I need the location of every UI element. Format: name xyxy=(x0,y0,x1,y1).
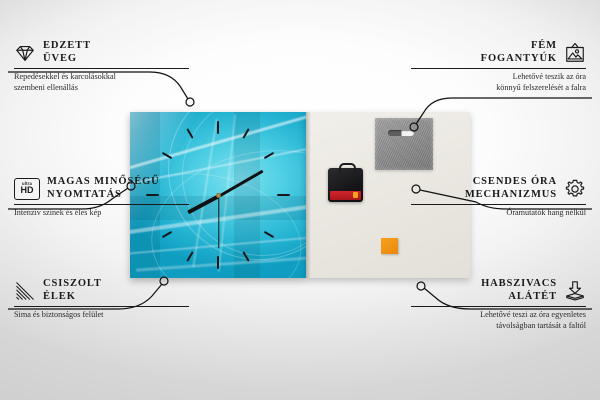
callout-title: MAGAS MINŐSÉGŰ xyxy=(47,176,160,189)
ultra-hd-icon: ultra HD xyxy=(14,178,40,200)
callout-edzett-uveg: EDZETT ÜVEG Repedésekkel és karcolásokka… xyxy=(14,40,189,93)
callout-title-2: FOGANTYÚK xyxy=(481,53,557,66)
callout-desc-1: Sima és biztonságos felület xyxy=(14,310,189,321)
diamond-gem-icon xyxy=(14,42,36,64)
callout-divider xyxy=(411,68,586,69)
callout-desc-1: Óramutatók hang nélkül xyxy=(411,208,586,219)
callout-divider xyxy=(411,306,586,307)
callout-title-2: NYOMTATÁS xyxy=(47,189,160,202)
callout-divider xyxy=(14,68,189,69)
wall-hanging-frame-icon xyxy=(564,42,586,64)
callout-title-2: ÜVEG xyxy=(43,53,91,66)
callout-desc-1: Lehetővé teszi az óra egyenletes xyxy=(411,310,586,321)
callout-desc-1: Lehetővé teszik az óra xyxy=(411,72,586,83)
polished-edge-icon xyxy=(14,280,36,302)
callout-divider xyxy=(14,306,189,307)
callout-desc-2: szembeni ellenállás xyxy=(14,83,189,94)
infographic-canvas: EDZETT ÜVEG Repedésekkel és karcolásokka… xyxy=(0,0,600,400)
callout-magas-minosegu-nyomtatas: ultra HD MAGAS MINŐSÉGŰ NYOMTATÁS Intenz… xyxy=(14,176,189,219)
callout-desc-2: könnyű felszerelését a falra xyxy=(411,83,586,94)
callout-desc-2: távolságban tartását a faltól xyxy=(411,321,586,332)
callout-title-2: ÉLEK xyxy=(43,291,102,304)
callout-title: EDZETT xyxy=(43,40,91,53)
callout-desc-1: Intenzív színek és éles kép xyxy=(14,208,189,219)
foam-pad-arrow-icon xyxy=(564,280,586,302)
callout-habszivacs-alatet: HABSZIVACS ALÁTÉT Lehetővé teszi az óra … xyxy=(411,278,586,331)
callout-divider xyxy=(411,204,586,205)
callout-csendes-ora-mechanizmus: CSENDES ÓRA MECHANIZMUS Óramutatók hang … xyxy=(411,176,586,219)
callout-title: CSISZOLT xyxy=(43,278,102,291)
ultra-hd-main-text: HD xyxy=(21,186,34,195)
callout-title: HABSZIVACS xyxy=(481,278,557,291)
callout-title: CSENDES ÓRA xyxy=(465,176,557,189)
callout-title-2: ALÁTÉT xyxy=(481,291,557,304)
callout-divider xyxy=(14,204,189,205)
callout-fem-fogantyuk: FÉM FOGANTYÚK Lehetővé teszik az óra kön… xyxy=(411,40,586,93)
callout-desc-1: Repedésekkel és karcolásokkal xyxy=(14,72,189,83)
callout-title-2: MECHANIZMUS xyxy=(465,189,557,202)
callout-csiszolt-elek: CSISZOLT ÉLEK Sima és biztonságos felüle… xyxy=(14,278,189,321)
gear-icon xyxy=(564,178,586,200)
callout-title: FÉM xyxy=(481,40,557,53)
